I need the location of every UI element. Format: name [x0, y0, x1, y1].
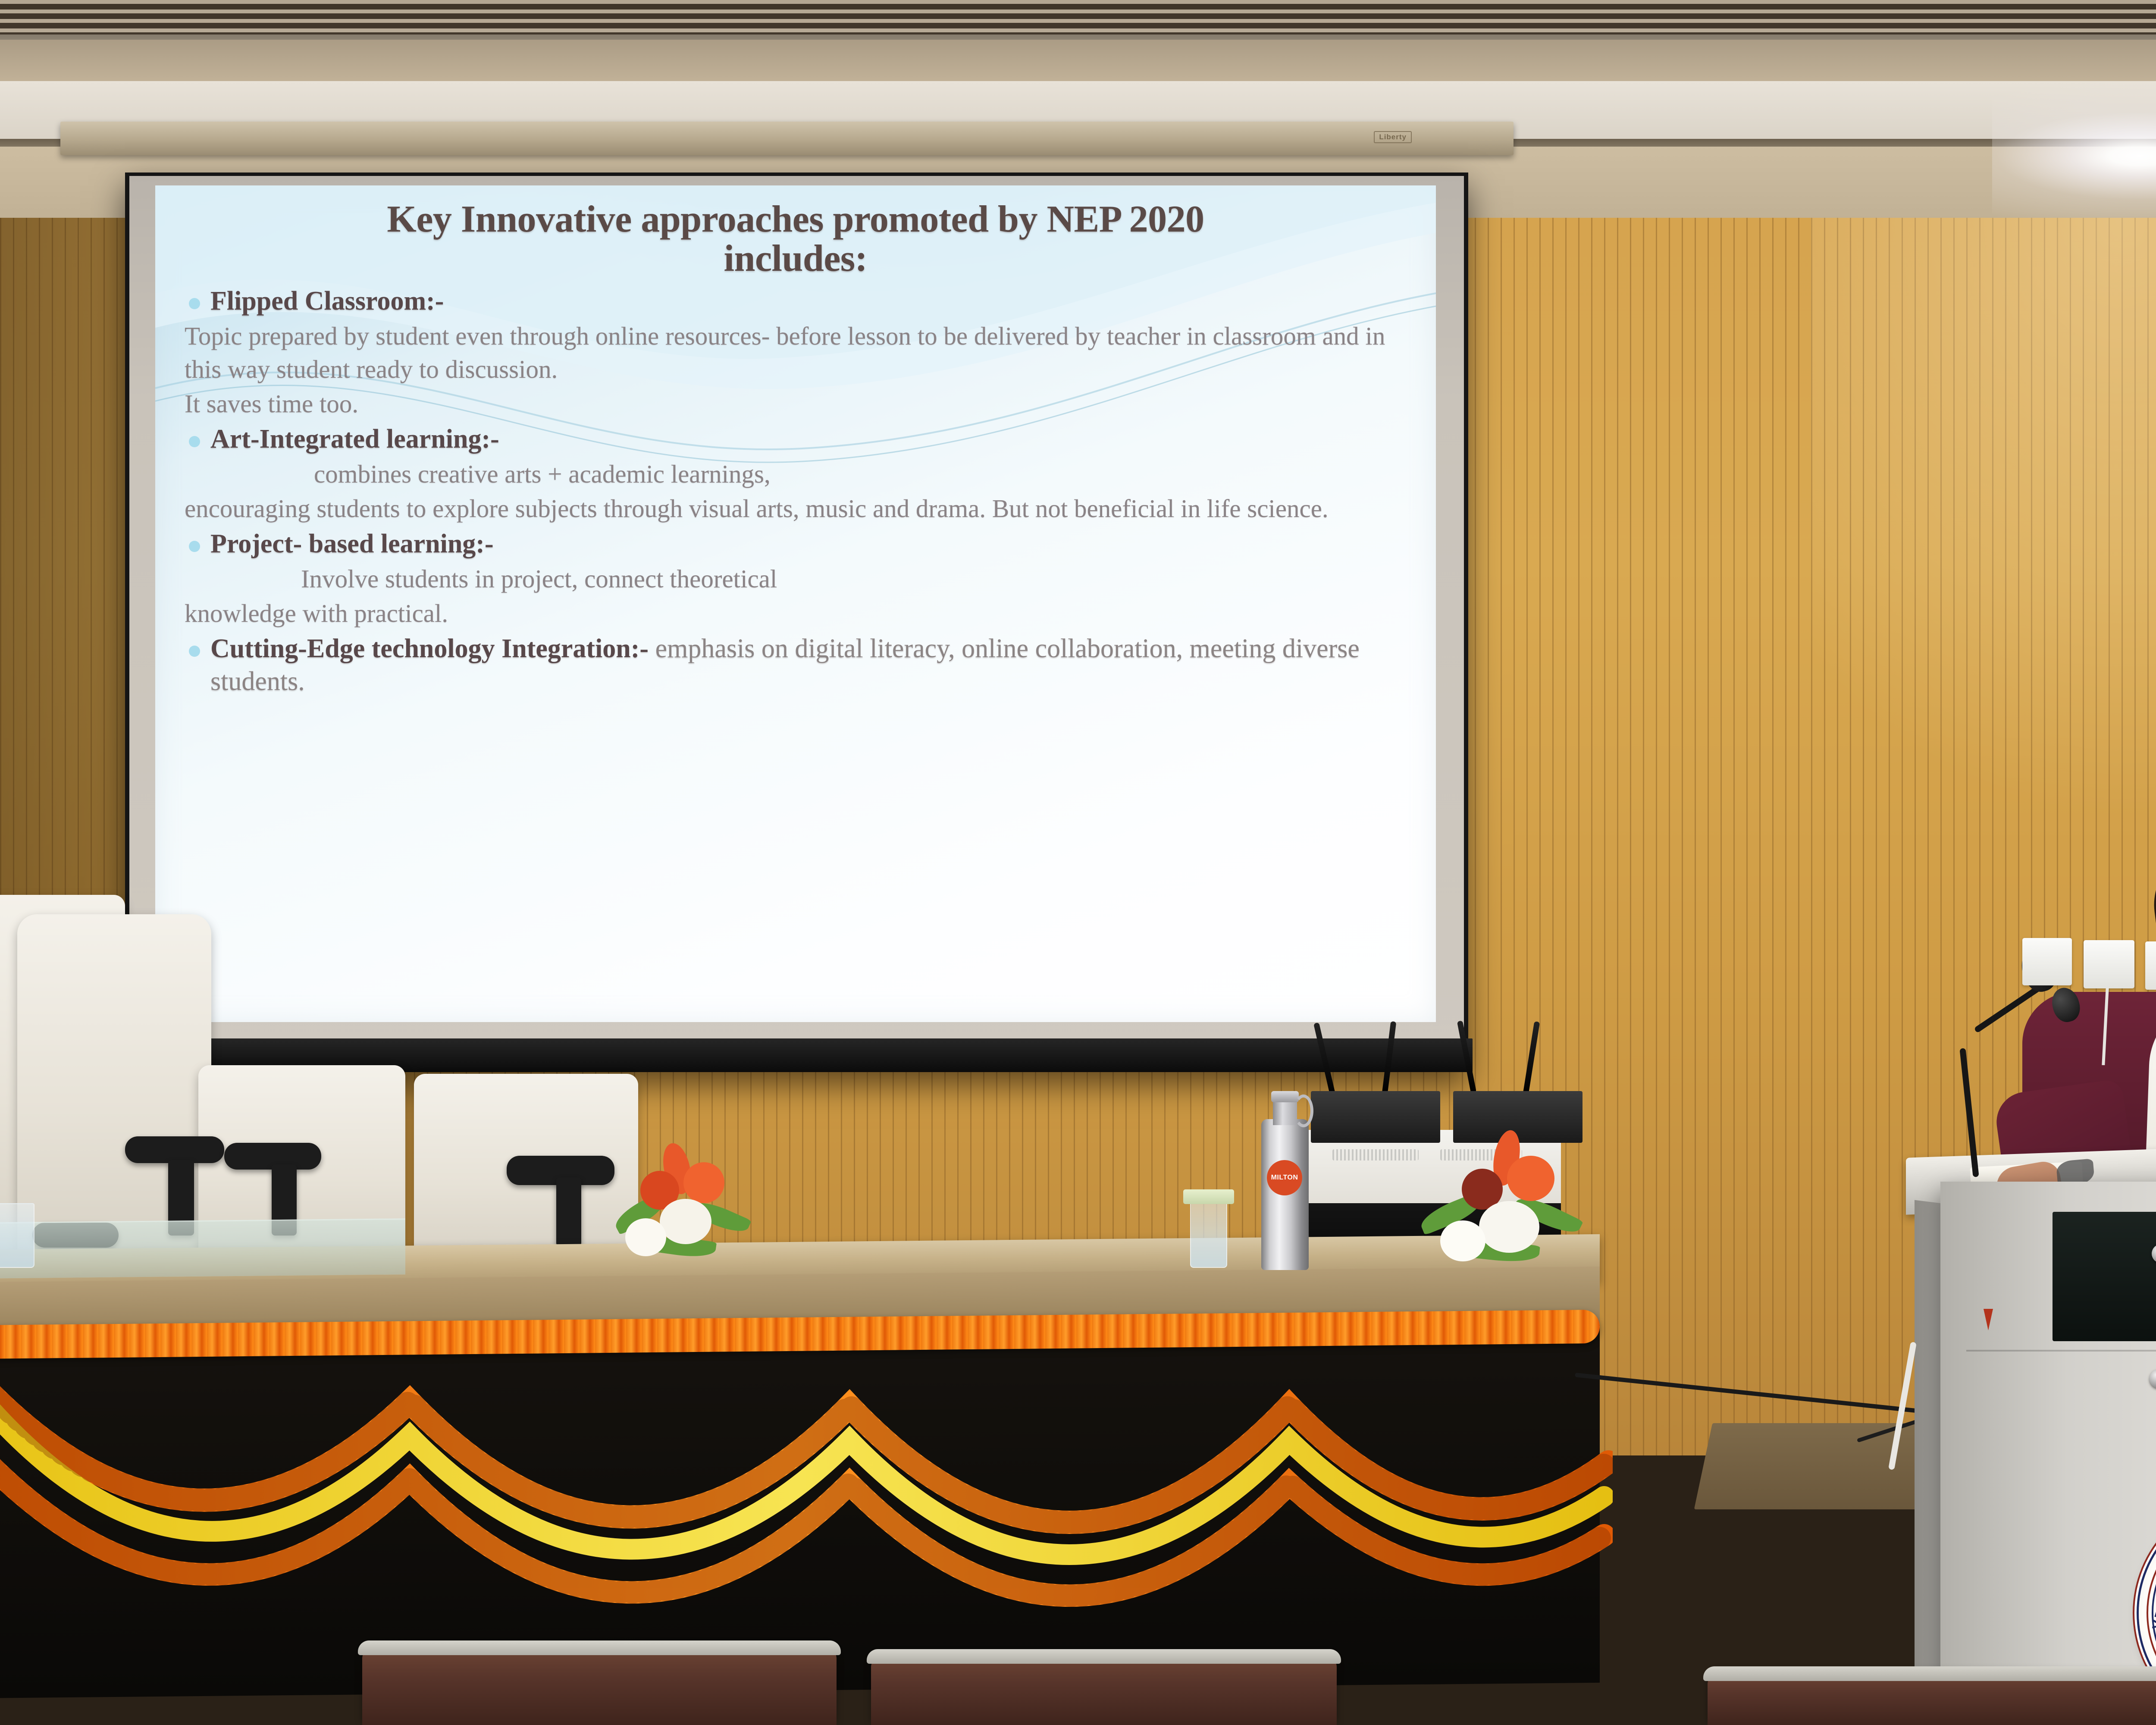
bullet-2-paragraph-1: knowledge with practical.: [179, 597, 1412, 630]
conference-hall-photo: IUCTE BHU Wi-Fi Name: IUCTE_Wi-Fi Passwo…: [0, 0, 2156, 1725]
projector-screen-housing: Liberty: [60, 122, 1514, 155]
slide-bullet-flipped-classroom: Flipped Classroom:-: [179, 285, 1412, 318]
bullet-heading: Flipped Classroom:-: [210, 285, 1412, 318]
bottle-cap: [1271, 1091, 1299, 1102]
slide-body: Flipped Classroom:- Topic prepared by st…: [179, 285, 1412, 698]
podium-control-panel: [2053, 1212, 2156, 1341]
console-decor-strip: [1332, 1149, 1419, 1160]
slide-title-text-2: includes:: [724, 238, 868, 279]
dais-glass-panel: [0, 1218, 405, 1279]
bullet-heading: Art-Integrated learning:-: [210, 423, 1412, 456]
audience-seat-back: [362, 1647, 837, 1725]
bullet-1-paragraph-0: combines creative arts + academic learni…: [179, 458, 1412, 491]
wall-socket-plate-2[interactable]: [2084, 940, 2134, 988]
chair-armrest-post: [556, 1177, 581, 1246]
bullet-heading-text: Art-Integrated learning:-: [210, 424, 499, 454]
slide-title-text-1: Key Innovative approaches promoted by NE…: [387, 198, 1204, 240]
glass-cover-lid: [1183, 1189, 1234, 1204]
wall-switch-plate-1[interactable]: [2022, 938, 2072, 985]
bullet-heading: Cutting-Edge technology Integration:- em…: [210, 633, 1412, 698]
water-glass-left: [0, 1203, 34, 1268]
bullet-1-paragraph-1: encouraging students to explore subjects…: [179, 492, 1412, 525]
bullet-2-paragraph-0-text: Involve students in project, connect the…: [301, 565, 777, 593]
audience-seat-back: [871, 1656, 1337, 1725]
slide-bullet-project-based: Project- based learning:-: [179, 528, 1412, 561]
bullet-1-paragraph-0-text: combines creative arts + academic learni…: [314, 460, 771, 488]
ceiling-air-grille-right: [1940, 0, 2156, 34]
bottle-carry-loop: [1294, 1095, 1313, 1127]
wall-light-glow: [1811, 218, 2156, 822]
bullet-heading-text: Cutting-Edge technology Integration:-: [210, 634, 649, 663]
slide-title: Key Innovative approaches promoted by NE…: [179, 200, 1412, 278]
bullet-heading-text: Project- based learning:-: [210, 529, 494, 558]
bullet-heading-text: Flipped Classroom:-: [210, 286, 444, 316]
bullet-heading: Project- based learning:-: [210, 528, 1412, 561]
flower-arrangement-right: [1414, 1130, 1613, 1302]
water-glass: [1190, 1199, 1227, 1268]
wall-socket-plate-3[interactable]: [2145, 941, 2156, 990]
bottle-brand-label: MILTON: [1267, 1160, 1302, 1195]
bullet-2-paragraph-0: Involve students in project, connect the…: [179, 562, 1412, 596]
chair-armrest: [125, 1136, 224, 1163]
slide-bullet-cutting-edge: Cutting-Edge technology Integration:- em…: [179, 633, 1412, 698]
audience-seat-back: [1708, 1673, 2156, 1725]
podium-seam: [1966, 1350, 2156, 1352]
flower-arrangement-left: [599, 1138, 780, 1294]
bullet-0-paragraph-1: It saves time too.: [179, 387, 1412, 420]
ceiling-air-grille: [0, 0, 1940, 34]
slide-bullet-art-integrated: Art-Integrated learning:-: [179, 423, 1412, 456]
presentation-slide: Key Innovative approaches promoted by NE…: [155, 185, 1436, 1022]
ceiling-band: [0, 40, 2156, 87]
bullet-0-paragraph-0: Topic prepared by student even through o…: [179, 320, 1412, 386]
screen-brand-label: Liberty: [1374, 131, 1412, 143]
